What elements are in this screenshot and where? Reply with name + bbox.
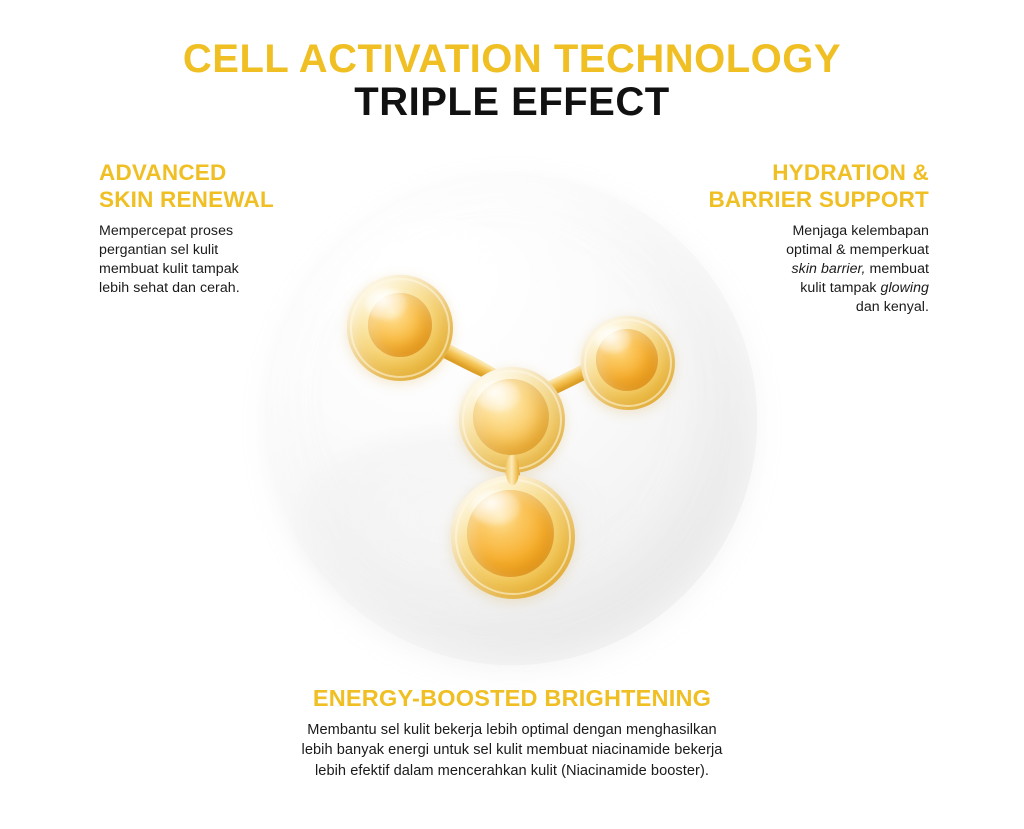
callout-hydration-barrier-support: HYDRATION & BARRIER SUPPORT Menjaga kele… [669, 160, 929, 316]
callout-bottom-body-line1: Membantu sel kulit bekerja lebih optimal… [307, 722, 716, 738]
node-top-right [581, 316, 675, 410]
node-top-left-gloss [365, 288, 407, 320]
callout-left-heading-line2: SKIN RENEWAL [99, 187, 274, 212]
callout-right-heading-line2: BARRIER SUPPORT [708, 187, 929, 212]
callout-left-body: Mempercepat proses pergantian sel kulit … [99, 222, 339, 298]
callout-right-body-line3-italic: skin barrier, [792, 261, 866, 277]
node-top-right-rim [581, 316, 675, 410]
node-center-gloss [476, 380, 521, 412]
callout-bottom-heading: ENERGY-BOOSTED BRIGHTENING [0, 685, 1024, 713]
node-center [459, 367, 565, 473]
stem-center-to-bottom [505, 462, 520, 498]
callout-right-body-line4-italic: glowing [881, 280, 929, 296]
callout-left-heading: ADVANCED SKIN RENEWAL [99, 160, 339, 213]
connector-right [664, 327, 861, 372]
node-top-left-rim [347, 275, 453, 381]
callout-bottom-body: Membantu sel kulit bekerja lebih optimal… [0, 720, 1024, 782]
callout-advanced-skin-renewal: ADVANCED SKIN RENEWAL Mempercepat proses… [99, 160, 339, 298]
droplet-link [506, 455, 519, 485]
callout-left-heading-line1: ADVANCED [99, 160, 226, 185]
callout-right-body-line3-rest: membuat [866, 261, 929, 277]
node-center-rim [459, 367, 565, 473]
callout-bottom-body-line2: lebih banyak energi untuk sel kulit memb… [302, 742, 723, 758]
node-top-left-core [368, 293, 432, 357]
node-center-ring [462, 370, 562, 470]
node-top-right-gloss [595, 326, 631, 352]
infographic-canvas: CELL ACTIVATION TECHNOLOGY TRIPLE EFFECT [0, 0, 1024, 829]
bubble-sheen [300, 430, 600, 620]
title-line-primary: CELL ACTIVATION TECHNOLOGY [0, 38, 1024, 81]
callout-right-body: Menjaga kelembapan optimal & memperkuat … [669, 222, 929, 316]
callout-left-body-line4: lebih sehat dan cerah. [99, 280, 240, 296]
node-top-right-core [596, 329, 658, 391]
callout-left-body-line3: membuat kulit tampak [99, 261, 239, 277]
node-center-core [473, 379, 549, 455]
page-title: CELL ACTIVATION TECHNOLOGY TRIPLE EFFECT [0, 38, 1024, 124]
title-line-secondary: TRIPLE EFFECT [0, 81, 1024, 124]
stem-center-to-top-right [516, 346, 627, 410]
node-top-left [347, 275, 453, 381]
stem-center-to-top-left [406, 325, 513, 389]
node-bottom-gloss [471, 490, 521, 525]
callout-right-body-line4-pre: kulit tampak [800, 280, 880, 296]
callout-right-heading: HYDRATION & BARRIER SUPPORT [669, 160, 929, 213]
node-bottom-core [467, 490, 554, 577]
connector-left [176, 294, 368, 333]
callout-right-body-line1: Menjaga kelembapan [792, 223, 929, 239]
node-top-right-ring [584, 319, 672, 407]
callout-right-body-line2: optimal & memperkuat [786, 242, 929, 258]
callout-energy-boosted-brightening: ENERGY-BOOSTED BRIGHTENING Membantu sel … [0, 685, 1024, 782]
callout-left-body-line2: pergantian sel kulit [99, 242, 218, 258]
node-top-left-ring [350, 278, 450, 378]
callout-right-body-line5: dan kenyal. [856, 299, 929, 315]
node-bottom [451, 475, 575, 599]
callout-right-heading-line1: HYDRATION & [772, 160, 929, 185]
node-bottom-ring [455, 479, 572, 596]
callout-left-body-line1: Mempercepat proses [99, 223, 233, 239]
node-bottom-rim [451, 475, 575, 599]
callout-bottom-body-line3: lebih efektif dalam mencerahkan kulit (N… [315, 763, 709, 779]
